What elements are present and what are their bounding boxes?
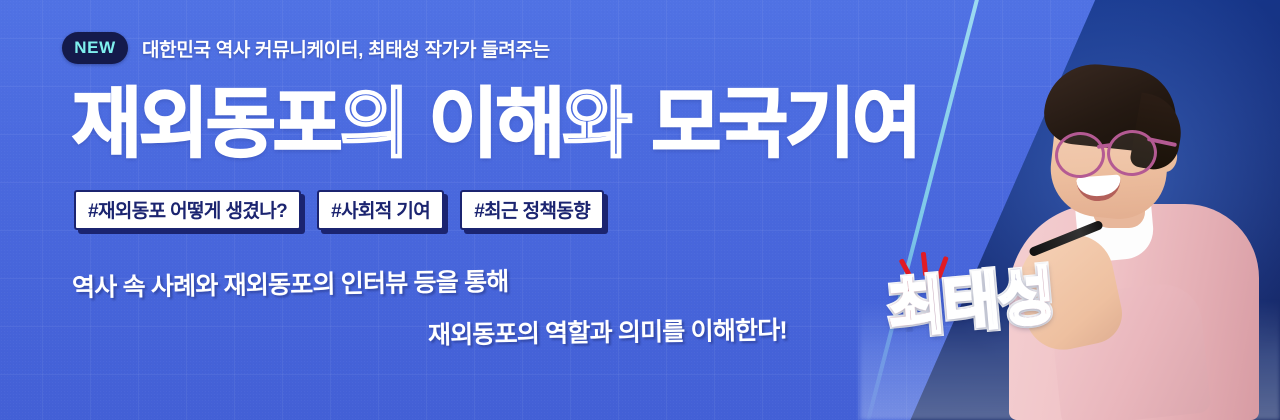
title-part-1: 재외동포: [72, 86, 340, 162]
description-line-2: 재외동포의 역할과 의미를 이해한다!: [428, 310, 787, 351]
title-part-4: 와: [562, 86, 629, 162]
hashtag-list: #재외동포 어떻게 생겼나? #사회적 기여 #최근 정책동향: [74, 190, 604, 230]
presenter-photo: [985, 58, 1280, 420]
hashtag-chip[interactable]: #사회적 기여: [317, 190, 444, 230]
banner-subtitle: 대한민국 역사 커뮤니케이터, 최태성 작가가 들려주는: [142, 35, 550, 62]
title-part-5: 모국기여: [651, 86, 919, 162]
top-line: NEW 대한민국 역사 커뮤니케이터, 최태성 작가가 들려주는: [62, 32, 550, 64]
promo-banner[interactable]: 최태성 최태성 최태성 NEW 대한민국 역사 커뮤니케이터, 최태성 작가가 …: [0, 0, 1280, 420]
title-part-2: 의: [340, 86, 407, 162]
banner-title: 재외동포 의 이해 와 모국기여: [72, 86, 919, 162]
signature-name: 최태성: [886, 265, 1056, 341]
hashtag-chip[interactable]: #최근 정책동향: [460, 190, 604, 230]
new-badge: NEW: [62, 32, 128, 64]
description-line-1: 역사 속 사례와 재외동포의 인터뷰 등을 통해: [72, 262, 509, 304]
hashtag-chip[interactable]: #재외동포 어떻게 생겼나?: [74, 190, 301, 230]
title-part-3: 이해: [429, 86, 563, 162]
